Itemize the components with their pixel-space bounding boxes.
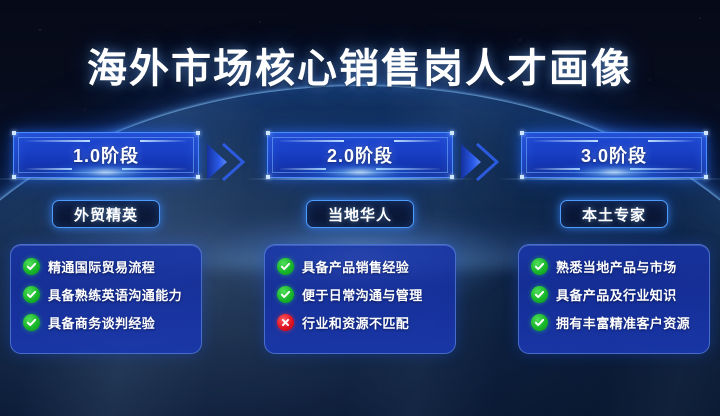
banner-accent-rule xyxy=(140,140,186,142)
check-circle-icon xyxy=(23,314,40,331)
list-item: 精通国际贸易流程 xyxy=(23,257,191,276)
stage-banner-3[interactable]: 3.0阶段 xyxy=(521,132,707,178)
banner-corner-nub xyxy=(450,131,454,135)
banner-accent-rule xyxy=(376,168,440,170)
banner-corner-nub xyxy=(196,131,200,135)
banner-accent-rule xyxy=(280,168,326,170)
check-circle-icon xyxy=(531,286,548,303)
bullet-card-3: 熟悉当地产品与市场 具备产品及行业知识 拥有丰富精准客户资源 xyxy=(518,244,710,354)
banner-accent-rule xyxy=(534,168,580,170)
banner-accent-rule xyxy=(26,168,72,170)
banner-corner-nub xyxy=(704,131,708,135)
cross-circle-icon xyxy=(277,314,294,331)
list-item: 拥有丰富精准客户资源 xyxy=(531,313,699,332)
banner-light-streak xyxy=(245,178,475,180)
check-circle-icon xyxy=(531,258,548,275)
check-circle-icon xyxy=(277,258,294,275)
banner-corner-nub xyxy=(266,131,270,135)
banner-light-streak xyxy=(0,178,221,180)
list-item-label: 拥有丰富精准客户资源 xyxy=(556,313,690,332)
banner-accent-rule xyxy=(630,168,694,170)
list-item-label: 行业和资源不匹配 xyxy=(302,313,409,332)
role-pill-label-2: 当地华人 xyxy=(328,204,392,225)
list-item-label: 具备产品及行业知识 xyxy=(556,285,677,304)
role-pill-3[interactable]: 本土专家 xyxy=(560,200,668,228)
stage-columns: 1.0阶段 外贸精英 精通国际贸易流程 具备熟练英语沟 xyxy=(0,132,720,372)
bullet-card-1: 精通国际贸易流程 具备熟练英语沟通能力 具备商务谈判经验 xyxy=(10,244,202,354)
bullet-card-2: 具备产品销售经验 便于日常沟通与管理 行业和资源不匹配 xyxy=(264,244,456,354)
banner-accent-rule xyxy=(122,168,186,170)
page-title: 海外市场核心销售岗人才画像 xyxy=(0,40,720,98)
check-circle-icon xyxy=(531,314,548,331)
list-item-label: 具备商务谈判经验 xyxy=(48,313,155,332)
infographic-canvas: 海外市场核心销售岗人才画像 1.0阶段 外贸精英 xyxy=(0,0,720,416)
list-item: 具备产品销售经验 xyxy=(277,257,445,276)
list-item: 便于日常沟通与管理 xyxy=(277,285,445,304)
role-pill-1[interactable]: 外贸精英 xyxy=(52,200,160,228)
list-item: 具备熟练英语沟通能力 xyxy=(23,285,191,304)
stage-banner-label-1: 1.0阶段 xyxy=(73,142,139,168)
list-item: 行业和资源不匹配 xyxy=(277,313,445,332)
check-circle-icon xyxy=(23,286,40,303)
banner-light-streak xyxy=(499,178,720,180)
stage-banner-2[interactable]: 2.0阶段 xyxy=(267,132,453,178)
double-chevron-right-icon xyxy=(205,134,261,190)
banner-accent-rule xyxy=(394,140,440,142)
role-pill-2[interactable]: 当地华人 xyxy=(306,200,414,228)
list-item-label: 具备产品销售经验 xyxy=(302,257,409,276)
list-item: 熟悉当地产品与市场 xyxy=(531,257,699,276)
stage-column-3: 3.0阶段 本土专家 熟悉当地产品与市场 具备产品及行 xyxy=(515,132,713,354)
list-item-label: 具备熟练英语沟通能力 xyxy=(48,285,182,304)
list-item: 具备产品及行业知识 xyxy=(531,285,699,304)
check-circle-icon xyxy=(277,286,294,303)
double-chevron-right-icon xyxy=(459,134,515,190)
stage-column-1: 1.0阶段 外贸精英 精通国际贸易流程 具备熟练英语沟 xyxy=(7,132,205,354)
stage-banner-label-2: 2.0阶段 xyxy=(327,142,393,168)
check-circle-icon xyxy=(23,258,40,275)
stage-banner-label-3: 3.0阶段 xyxy=(581,142,647,168)
role-pill-label-3: 本土专家 xyxy=(582,204,646,225)
role-pill-label-1: 外贸精英 xyxy=(74,204,138,225)
banner-corner-nub xyxy=(520,131,524,135)
list-item: 具备商务谈判经验 xyxy=(23,313,191,332)
stage-banner-1[interactable]: 1.0阶段 xyxy=(13,132,199,178)
stage-column-2: 2.0阶段 当地华人 具备产品销售经验 便于日常沟通与 xyxy=(261,132,459,354)
list-item-label: 精通国际贸易流程 xyxy=(48,257,155,276)
list-item-label: 便于日常沟通与管理 xyxy=(302,285,423,304)
banner-corner-nub xyxy=(12,131,16,135)
banner-accent-rule xyxy=(648,140,694,142)
list-item-label: 熟悉当地产品与市场 xyxy=(556,257,677,276)
